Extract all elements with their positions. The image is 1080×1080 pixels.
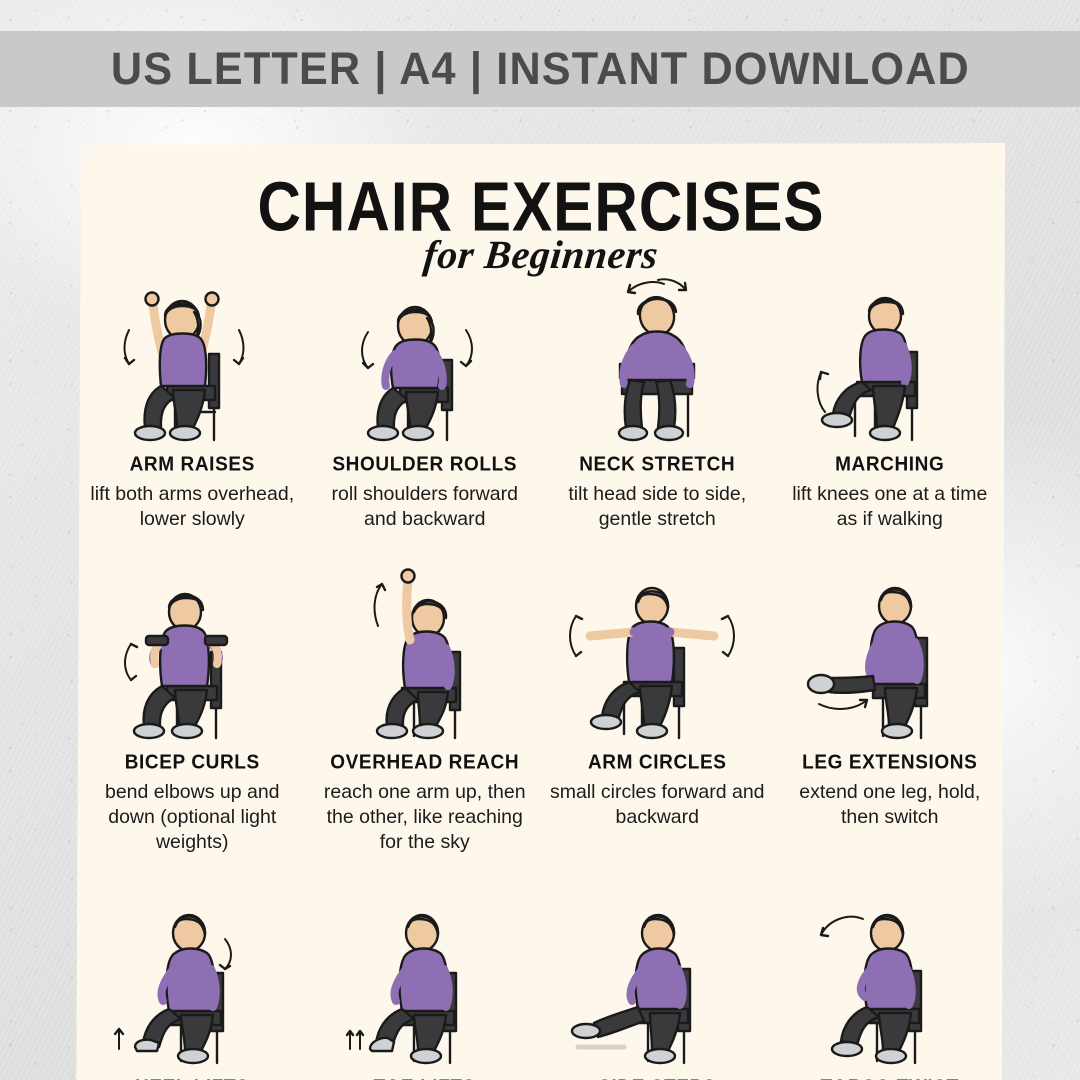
poster-sheet: CHAIR EXERCISES for Beginners (76, 143, 1006, 1080)
format-banner: US LETTER | A4 | INSTANT DOWNLOAD (0, 31, 1080, 107)
heel-lifts-illustration (82, 891, 303, 1069)
exercise-row: HEEL LIFTS lift heels while toes (76, 891, 1006, 1080)
shoulder-rolls-illustration (315, 268, 536, 446)
exercise-card-arm-raises: ARM RAISES lift both arms overhead, lowe… (76, 268, 309, 532)
exercise-card-heel-lifts: HEEL LIFTS lift heels while toes (76, 891, 309, 1080)
exercise-description: roll shoulders forward and backward (316, 482, 534, 532)
exercise-description: small circles forward and backward (548, 780, 766, 830)
exercise-description: extend one leg, hold, then switch (781, 780, 999, 830)
exercise-row: ARM RAISES lift both arms overhead, lowe… (76, 268, 1006, 546)
bicep-curls-illustration (82, 566, 303, 744)
exercise-name: BICEP CURLS (125, 751, 260, 774)
exercise-card-arm-circles: ARM CIRCLES small circles forward and ba… (541, 566, 774, 855)
exercise-card-torso-twist: TORSO TWIST turn shoulders gently (774, 891, 1007, 1080)
exercise-card-neck-stretch: NECK STRETCH tilt head side to side, gen… (541, 268, 774, 532)
torso-twist-illustration (780, 891, 1001, 1069)
exercise-name: LEG EXTENSIONS (802, 751, 977, 774)
exercise-name: ARM RAISES (130, 453, 255, 476)
mockup-stage: US LETTER | A4 | INSTANT DOWNLOAD CHAIR … (0, 0, 1080, 1080)
exercise-name: OVERHEAD REACH (330, 751, 519, 774)
exercise-description: lift knees one at a time as if walking (781, 482, 999, 532)
exercise-name: SIDE STEPS (598, 1076, 716, 1080)
poster-content: CHAIR EXERCISES for Beginners (76, 143, 1006, 1080)
toe-lifts-illustration (315, 891, 536, 1069)
exercise-name: HEEL LIFTS (135, 1076, 249, 1080)
exercise-name: ARM CIRCLES (588, 751, 727, 774)
format-banner-label: US LETTER | A4 | INSTANT DOWNLOAD (111, 43, 970, 95)
exercise-description: bend elbows up and down (optional light … (83, 780, 301, 855)
neck-stretch-illustration (547, 268, 768, 446)
marching-illustration (780, 268, 1001, 446)
leg-extensions-illustration (780, 566, 1001, 744)
exercise-row: BICEP CURLS bend elbows up and down (opt… (76, 566, 1006, 869)
arm-raises-illustration (82, 268, 303, 446)
exercise-name: SHOULDER ROLLS (332, 453, 517, 476)
exercise-grid: ARM RAISES lift both arms overhead, lowe… (76, 268, 1006, 1080)
exercise-name: TORSO TWIST (821, 1076, 959, 1080)
arm-circles-illustration (547, 566, 768, 744)
exercise-description: lift both arms overhead, lower slowly (83, 482, 301, 532)
overhead-reach-illustration (315, 566, 536, 744)
exercise-card-marching: MARCHING lift knees one at a time as if … (774, 268, 1007, 532)
exercise-card-side-steps: SIDE STEPS step one foot to the (541, 891, 774, 1080)
exercise-card-shoulder-rolls: SHOULDER ROLLS roll shoulders forward an… (309, 268, 542, 532)
exercise-card-toe-lifts: TOE LIFTS lift toes while heels (309, 891, 542, 1080)
exercise-name: NECK STRETCH (579, 453, 735, 476)
exercise-card-overhead-reach: OVERHEAD REACH reach one arm up, then th… (309, 566, 542, 855)
exercise-description: tilt head side to side, gentle stretch (548, 482, 766, 532)
side-steps-illustration (547, 891, 768, 1069)
exercise-name: TOE LIFTS (374, 1076, 476, 1080)
exercise-card-leg-extensions: LEG EXTENSIONS extend one leg, hold, the… (774, 566, 1007, 855)
exercise-name: MARCHING (835, 453, 944, 476)
exercise-description: reach one arm up, then the other, like r… (316, 780, 534, 855)
exercise-card-bicep-curls: BICEP CURLS bend elbows up and down (opt… (76, 566, 309, 855)
